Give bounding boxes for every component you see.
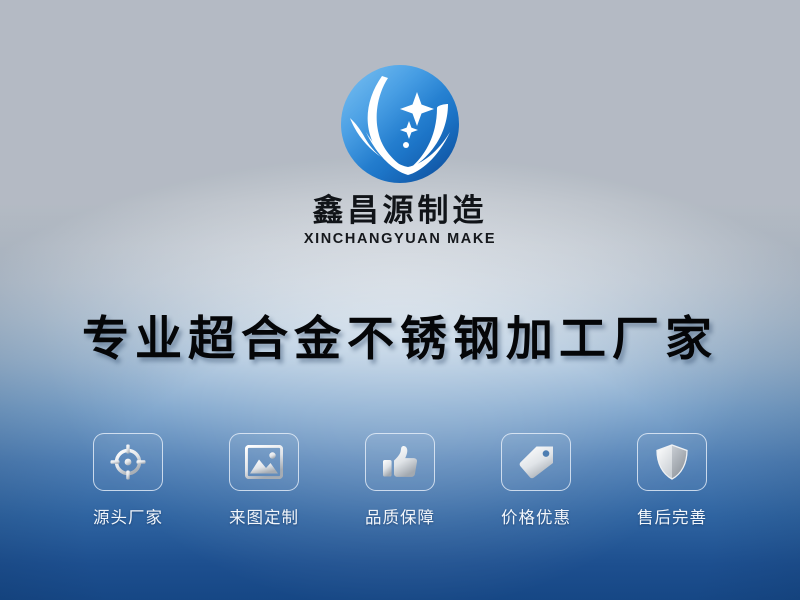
promo-banner: 鑫昌源制造 XINCHANGYUAN MAKE 专业超合金不锈钢加工厂家 xyxy=(0,0,800,600)
feature-label: 品质保障 xyxy=(344,504,456,528)
feature-label: 来图定制 xyxy=(208,504,320,528)
shield-icon xyxy=(656,444,688,480)
feature-icon-box xyxy=(365,433,435,491)
feature-item-quality-guarantee[interactable]: 品质保障 xyxy=(344,433,456,528)
logo-company-name-en: XINCHANGYUAN MAKE xyxy=(0,231,800,247)
headline-text: 专业超合金不锈钢加工厂家 xyxy=(0,300,800,369)
feature-list: 源头厂家 来图定制 xyxy=(72,433,728,528)
image-picture-icon xyxy=(245,445,283,479)
price-tag-icon xyxy=(517,445,555,479)
feature-icon-box xyxy=(93,433,163,491)
feature-icon-box xyxy=(637,433,707,491)
feature-item-source-factory[interactable]: 源头厂家 xyxy=(72,433,184,528)
logo-company-name-cn: 鑫昌源制造 xyxy=(0,194,800,229)
feature-icon-box xyxy=(229,433,299,491)
feature-item-custom-drawing[interactable]: 来图定制 xyxy=(208,433,320,528)
feature-label: 价格优惠 xyxy=(480,504,592,528)
feature-icon-box xyxy=(501,433,571,491)
feature-label: 售后完善 xyxy=(616,504,728,528)
feature-label: 源头厂家 xyxy=(72,504,184,528)
logo-block: 鑫昌源制造 XINCHANGYUAN MAKE xyxy=(0,62,800,247)
logo-emblem-icon xyxy=(338,62,462,186)
feature-item-price-discount[interactable]: 价格优惠 xyxy=(480,433,592,528)
feature-item-after-sales[interactable]: 售后完善 xyxy=(616,433,728,528)
crosshair-target-icon xyxy=(109,443,147,481)
thumbs-up-icon xyxy=(382,445,418,479)
